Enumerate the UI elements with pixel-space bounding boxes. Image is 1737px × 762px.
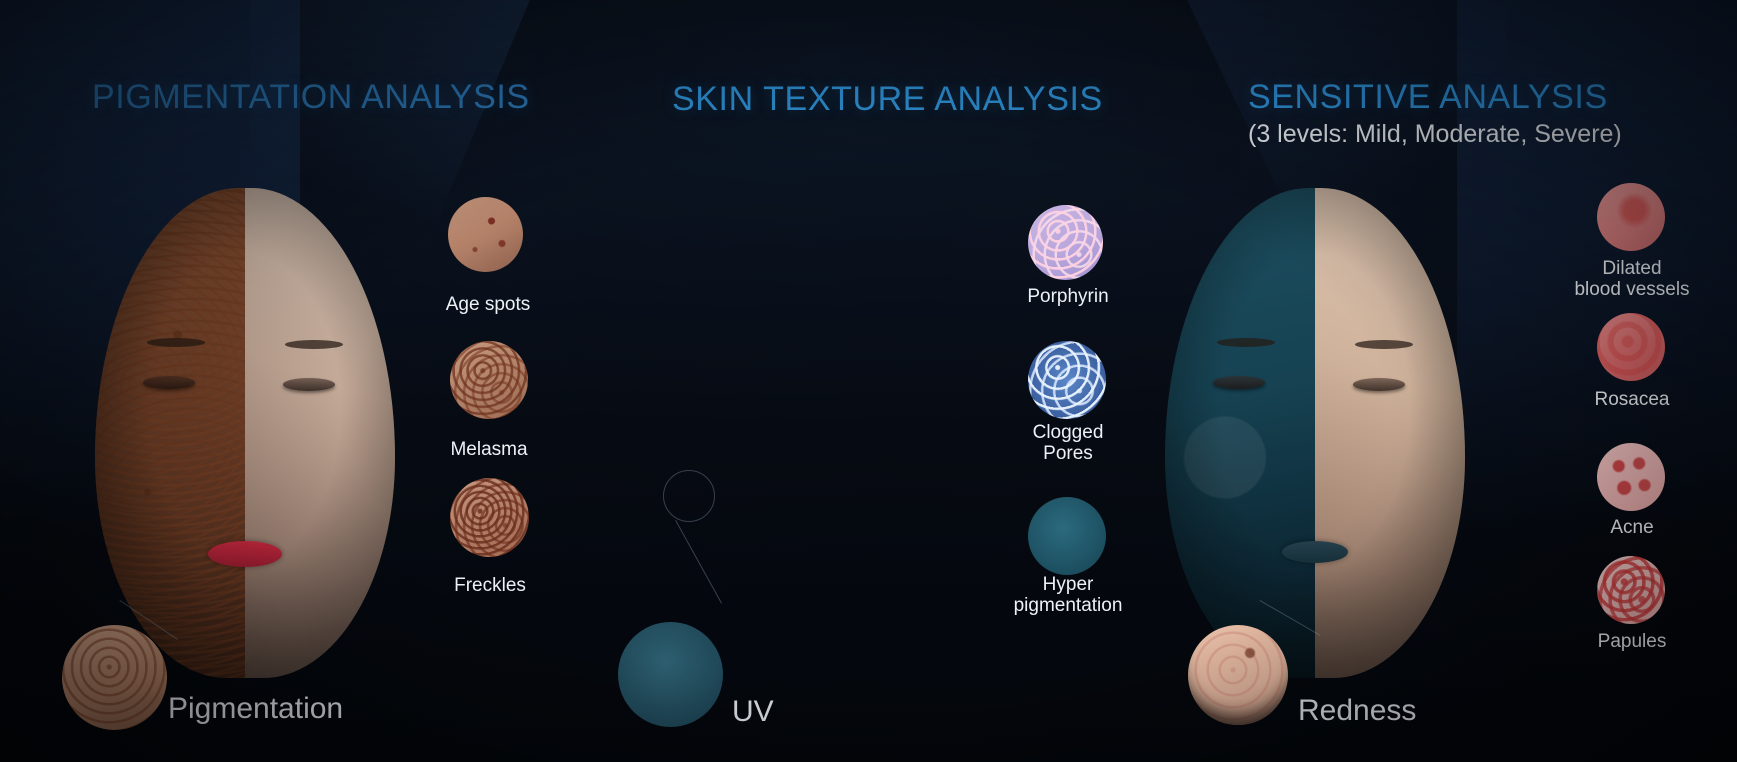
swatch-label-hyper-pigmentation: Hyper pigmentation xyxy=(958,575,1178,616)
swatch-label-freckles: Freckles xyxy=(400,576,580,597)
swatch-label-melasma: Melasma xyxy=(399,440,579,461)
bottom-label-uv: UV xyxy=(732,695,774,729)
bottom-label-redness: Redness xyxy=(1298,694,1416,728)
swatch-label-dilated-blood-vessels: Dilated blood vessels xyxy=(1527,259,1737,300)
swatch-label-clogged-pores: Clogged Pores xyxy=(978,423,1158,464)
face-image-pigmentation[interactable] xyxy=(95,188,395,678)
panel-subtitle-sensitive: (3 levels: Mild, Moderate, Severe) xyxy=(1248,120,1622,149)
panel-skin-texture: SKIN TEXTURE ANALYSIS Porphyrin Clogged … xyxy=(580,0,1170,762)
bottom-label-pigmentation: Pigmentation xyxy=(168,692,343,726)
panel-title-sensitive: SENSITIVE ANALYSIS xyxy=(1248,78,1608,117)
panel-sensitive: SENSITIVE ANALYSIS (3 levels: Mild, Mode… xyxy=(1150,0,1737,762)
swatch-melasma[interactable] xyxy=(450,341,528,419)
face-half-original xyxy=(245,188,395,678)
panel-title-pigmentation: PIGMENTATION ANALYSIS xyxy=(92,78,530,117)
panel-pigmentation: PIGMENTATION ANALYSIS Age spots Melasma … xyxy=(0,0,600,762)
swatch-dilated-blood-vessels[interactable] xyxy=(1597,183,1665,251)
swatch-hyper-pigmentation[interactable] xyxy=(1028,497,1106,575)
swatch-label-acne: Acne xyxy=(1537,518,1727,539)
leader-line-redness xyxy=(1260,600,1321,636)
eyebrow-left xyxy=(147,338,205,347)
swatch-uv-detail[interactable] xyxy=(618,622,723,727)
swatch-rosacea[interactable] xyxy=(1597,313,1665,381)
swatch-papules[interactable] xyxy=(1597,556,1665,624)
panel-title-skin-texture: SKIN TEXTURE ANALYSIS xyxy=(672,80,1103,119)
lips xyxy=(208,541,282,567)
swatch-clogged-pores[interactable] xyxy=(1028,341,1106,419)
face-half-analysis xyxy=(95,188,245,678)
eye-right xyxy=(283,378,335,391)
swatch-porphyrin[interactable] xyxy=(1028,205,1103,280)
leader-line-uv xyxy=(675,520,722,604)
swatch-redness-detail[interactable] xyxy=(1188,625,1288,725)
eyebrow-right xyxy=(285,340,343,349)
swatch-age-spots[interactable] xyxy=(448,197,523,272)
swatch-freckles[interactable] xyxy=(450,478,529,557)
swatch-pigmentation-detail[interactable] xyxy=(62,625,167,730)
swatch-label-papules: Papules xyxy=(1537,632,1727,653)
swatch-acne[interactable] xyxy=(1597,443,1665,511)
swatch-label-age-spots: Age spots xyxy=(398,295,578,316)
zoom-target-ring-uv[interactable] xyxy=(663,470,715,522)
eye-left xyxy=(143,376,195,389)
swatch-label-porphyrin: Porphyrin xyxy=(978,287,1158,308)
swatch-label-rosacea: Rosacea xyxy=(1537,390,1727,411)
